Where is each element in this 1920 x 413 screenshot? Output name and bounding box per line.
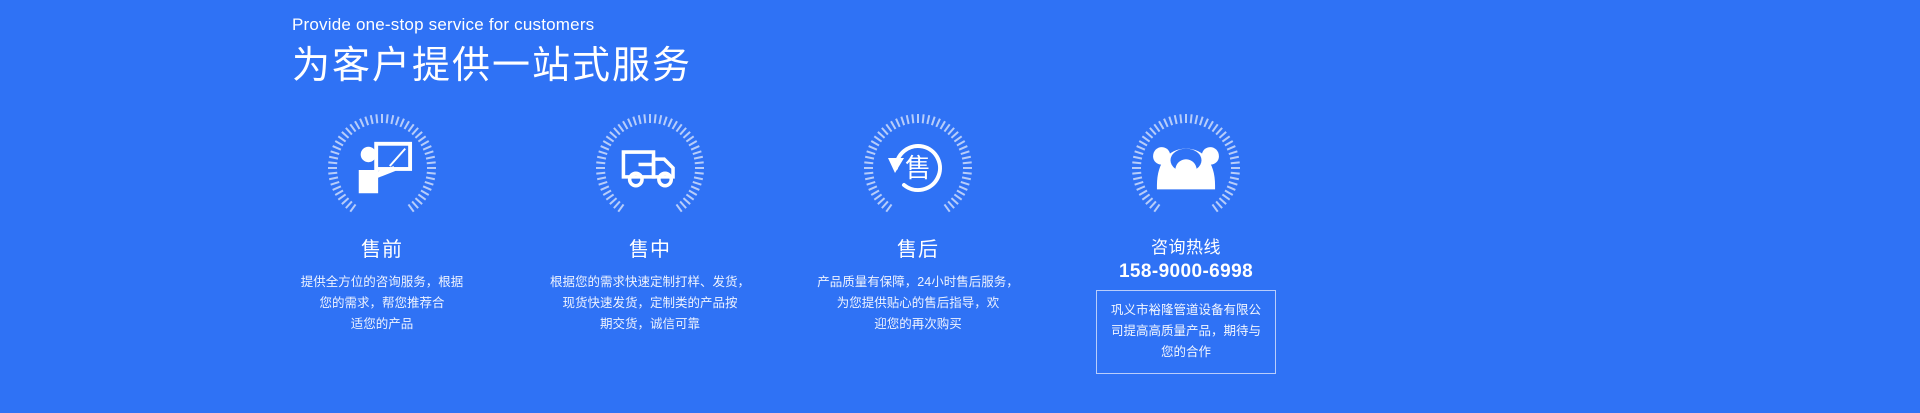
service-column-after-sale: 售 售后 产品质量有保障，24小时售后服务， 为您提供贴心的售后指导，欢 迎您的… [784, 108, 1052, 374]
presales-title: 售前 [361, 238, 403, 262]
service-column-during-sale: 售中 根据您的需求快速定制打样、发货， 现货快速发货，定制类的产品按 期交货，诚… [516, 108, 784, 374]
service-columns: 售前 提供全方位的咨询服务，根据 您的需求，帮您推荐合 适您的产品 [248, 108, 1688, 374]
after-sale-title: 售后 [897, 238, 939, 262]
service-column-hotline: 咨询热线 158-9000-6998 巩义市裕隆管道设备有限公 司提高高质量产品… [1052, 108, 1320, 374]
after-sale-badge: 售 [858, 108, 978, 228]
note-line: 司提高高质量产品，期待与 [1111, 324, 1261, 338]
after-sales-glyph-text: 售 [882, 132, 954, 204]
after-sale-description: 产品质量有保障，24小时售后服务， 为您提供贴心的售后指导，欢 迎您的再次购买 [817, 272, 1018, 335]
desc-line: 现货快速发货，定制类的产品按 [550, 293, 750, 314]
desc-line: 提供全方位的咨询服务，根据 [301, 272, 464, 293]
note-line: 巩义市裕隆管道设备有限公 [1111, 303, 1261, 317]
desc-line: 期交货，诚信可靠 [550, 314, 750, 335]
heading-block: Provide one-stop service for customers 为… [292, 16, 692, 88]
desc-line: 为您提供贴心的售后指导，欢 [817, 293, 1018, 314]
company-note-box: 巩义市裕隆管道设备有限公 司提高高质量产品，期待与 您的合作 [1096, 290, 1276, 374]
service-column-presales: 售前 提供全方位的咨询服务，根据 您的需求，帮您推荐合 适您的产品 [248, 108, 516, 374]
note-line: 您的合作 [1161, 345, 1211, 359]
presenter-whiteboard-icon [351, 137, 413, 199]
banner-eyebrow: Provide one-stop service for customers [292, 16, 692, 35]
desc-line: 您的需求，帮您推荐合 [301, 293, 464, 314]
during-sale-title: 售中 [629, 238, 671, 262]
desc-line: 迎您的再次购买 [817, 314, 1018, 335]
desc-line: 根据您的需求快速定制打样、发货， [550, 272, 750, 293]
delivery-truck-icon [619, 137, 681, 199]
banner-root: Provide one-stop service for customers 为… [0, 0, 1920, 413]
page-title: 为客户提供一站式服务 [292, 45, 692, 89]
presales-description: 提供全方位的咨询服务，根据 您的需求，帮您推荐合 适您的产品 [301, 272, 464, 335]
desc-line: 适您的产品 [301, 314, 464, 335]
during-sale-description: 根据您的需求快速定制打样、发货， 现货快速发货，定制类的产品按 期交货，诚信可靠 [550, 272, 750, 335]
desc-line: 产品质量有保障，24小时售后服务， [817, 272, 1018, 293]
hotline-title: 咨询热线 [1151, 238, 1221, 258]
during-sale-badge [590, 108, 710, 228]
presales-badge [322, 108, 442, 228]
hotline-badge [1126, 108, 1246, 228]
hotline-number[interactable]: 158-9000-6998 [1119, 260, 1253, 284]
telephone-icon [1151, 137, 1221, 199]
